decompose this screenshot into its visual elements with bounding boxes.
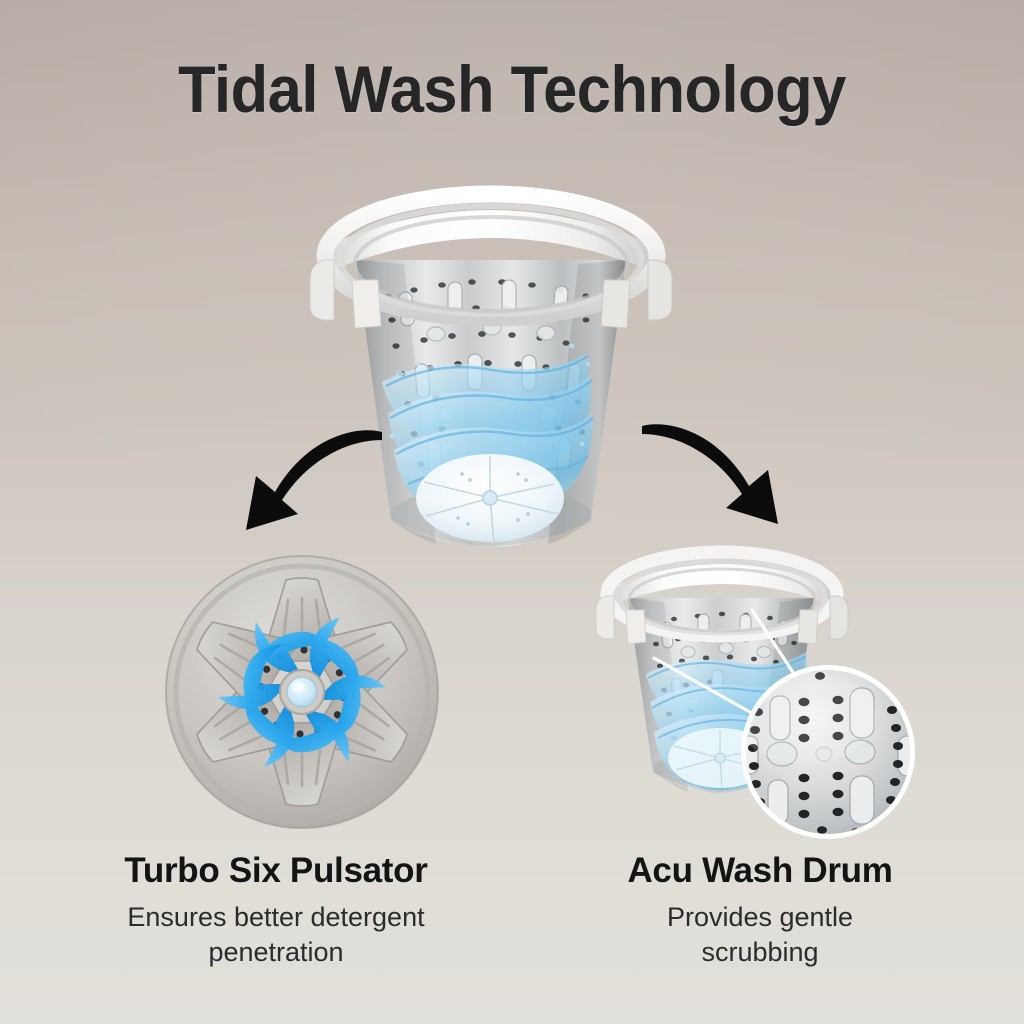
page-title: Tidal Wash Technology xyxy=(36,56,988,122)
acu-wash-drum-illustration xyxy=(592,540,922,840)
feature-description-pulsator: Ensures better detergent penetration xyxy=(48,900,504,971)
feature-description-line1: Ensures better detergent xyxy=(48,900,504,936)
feature-description-line1: Provides gentle xyxy=(540,900,980,936)
feature-caption-drum: Acu Wash Drum Provides gentle scrubbing xyxy=(540,852,980,971)
feature-heading-pulsator: Turbo Six Pulsator xyxy=(48,852,504,891)
pulsator-illustration xyxy=(158,548,446,836)
feature-heading-drum: Acu Wash Drum xyxy=(540,852,980,891)
feature-caption-pulsator: Turbo Six Pulsator Ensures better deterg… xyxy=(48,852,504,971)
infographic-canvas: Tidal Wash Technology xyxy=(0,0,1024,1024)
curved-arrow-down-left-icon xyxy=(238,398,388,538)
pulsator-hub xyxy=(280,670,324,714)
feature-description-line2: penetration xyxy=(48,935,504,971)
inner-pulsator xyxy=(416,454,564,542)
feature-description-drum: Provides gentle scrubbing xyxy=(540,900,980,971)
feature-description-line2: scrubbing xyxy=(540,935,980,971)
curved-arrow-down-right-icon xyxy=(636,392,786,532)
